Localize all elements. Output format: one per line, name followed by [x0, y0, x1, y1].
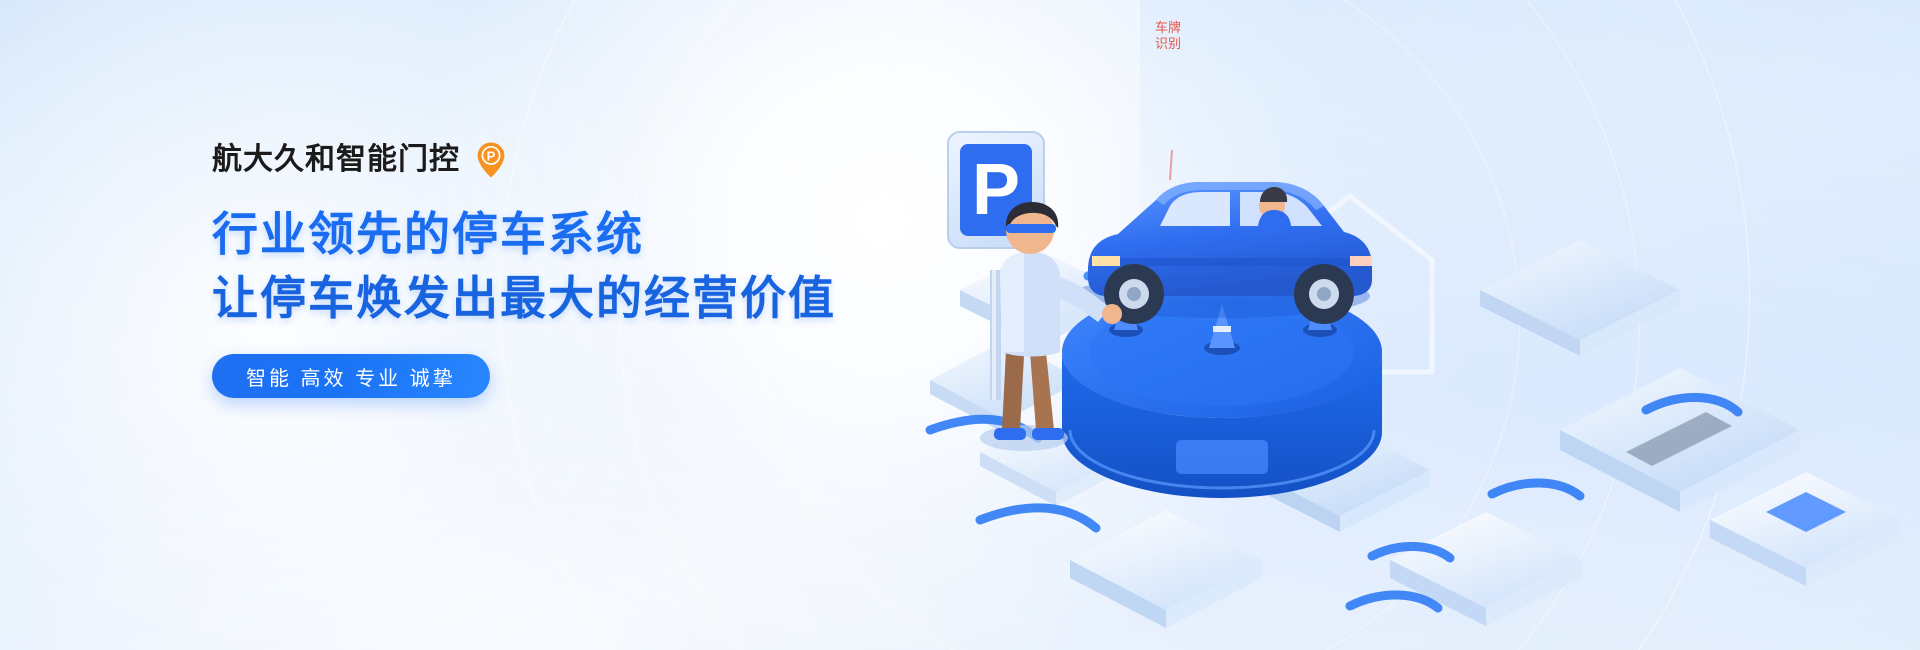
- svg-text:识别: 识别: [1155, 36, 1181, 51]
- parking-pin-icon: P: [476, 141, 506, 179]
- svg-text:P: P: [487, 149, 496, 164]
- headline-line-1: 行业领先的停车系统: [212, 202, 932, 266]
- brand-name: 航大久和智能门控: [212, 145, 460, 175]
- license-plate-callout: 车牌 识别: [1155, 20, 1181, 180]
- car-wheel-rear: [1294, 264, 1354, 324]
- headline-line-2: 让停车焕发出最大的经营价值: [212, 266, 932, 330]
- hero-headline: 行业领先的停车系统 让停车焕发出最大的经营价值: [212, 202, 932, 330]
- tagline-pill: 智能 高效 专业 诚挚: [212, 354, 490, 398]
- brand-row: 航大久和智能门控 P: [212, 140, 932, 180]
- car: [1070, 182, 1372, 324]
- svg-text:车牌: 车牌: [1155, 20, 1181, 35]
- hero-copy: 航大久和智能门控 P 行业领先的停车系统 让停车焕发出最大的经营价值 智能 高效…: [212, 140, 932, 398]
- parking-lot-isometric-illustration: P: [920, 0, 1920, 650]
- hero-banner: 航大久和智能门控 P 行业领先的停车系统 让停车焕发出最大的经营价值 智能 高效…: [0, 0, 1920, 650]
